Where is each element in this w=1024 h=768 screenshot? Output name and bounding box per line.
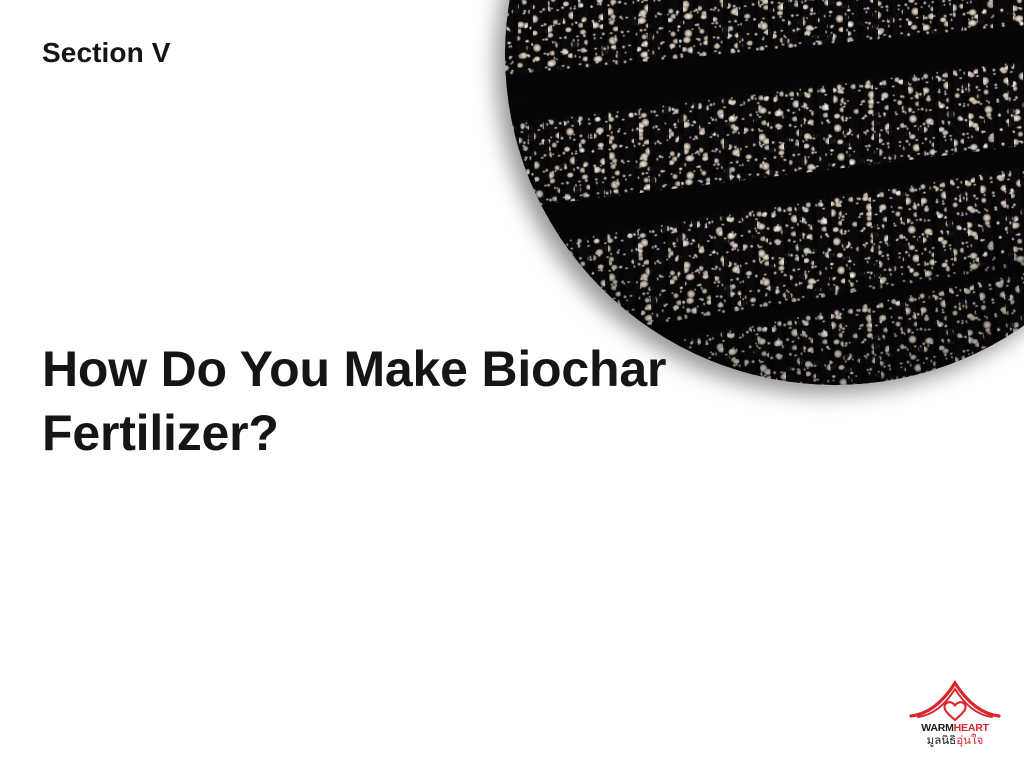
warmheart-logo: WARMHEART มูลนิธิอุ่นใจ <box>905 678 1005 758</box>
warmheart-thai-primary: มูลนิธิ <box>927 735 957 747</box>
presentation-slide: Section V How Do You Make Biochar Fertil… <box>0 0 1024 768</box>
page-title: How Do You Make Biochar Fertilizer? <box>42 337 762 465</box>
warmheart-word-warm: WARM <box>921 722 953 734</box>
page-title-line-1: How Do You Make Biochar <box>42 337 762 401</box>
section-label: Section V <box>42 37 171 69</box>
warmheart-thai-secondary: อุ่นใจ <box>956 735 983 747</box>
warmheart-word-heart: HEART <box>954 722 989 734</box>
biochar-photo-image <box>505 0 1024 385</box>
warmheart-wordmark: WARMHEART <box>905 723 1005 735</box>
biochar-closeup-photo <box>505 0 1024 385</box>
warmheart-thai-text: มูลนิธิอุ่นใจ <box>905 735 1005 748</box>
warmheart-roof-heart-icon <box>905 678 1005 722</box>
page-title-line-2: Fertilizer? <box>42 401 762 465</box>
